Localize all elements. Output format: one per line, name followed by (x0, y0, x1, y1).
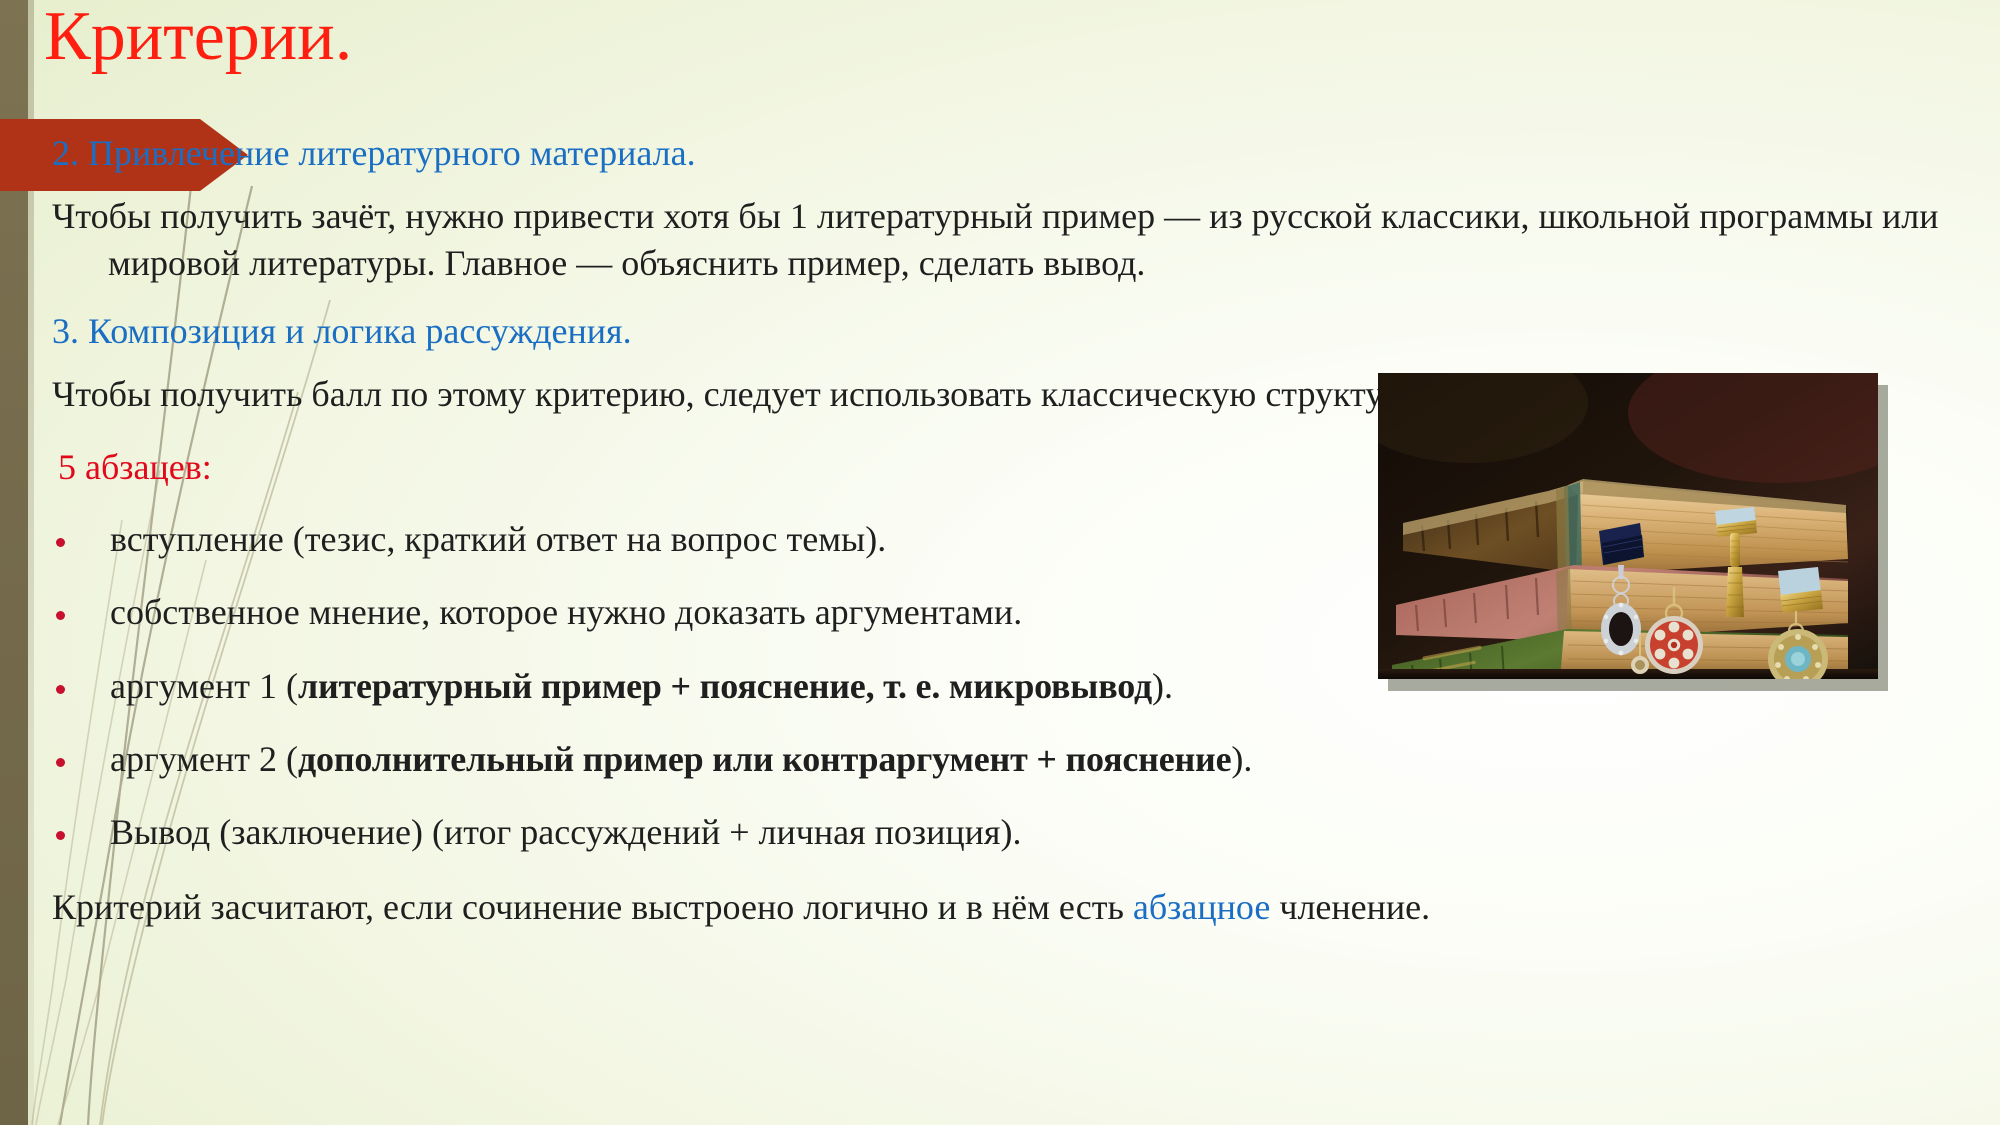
list-item-prefix: аргумент 2 ( (110, 739, 298, 779)
criterion-2-heading: 2. Привлечение литературного материала. (52, 130, 1957, 177)
list-item-text: собственное мнение, которое нужно доказа… (110, 592, 1022, 632)
list-item-emphasis: дополнительный пример или контраргумент … (298, 739, 1231, 779)
criterion-3-heading: 3. Композиция и логика рассуждения. (52, 308, 1957, 355)
list-item-text: вступление (тезис, краткий ответ на вопр… (110, 519, 886, 559)
list-item-text: Вывод (заключение) (итог рассуждений + л… (110, 812, 1021, 852)
presentation-slide: Критерии. 2. Привлечение литературного м… (0, 0, 2000, 1125)
closing-highlight: абзацное (1133, 887, 1270, 927)
books-photo-container (1378, 373, 1878, 679)
slide-title: Критерии. (44, 2, 352, 72)
list-item: Вывод (заключение) (итог рассуждений + л… (52, 810, 1957, 855)
list-item-suffix: ). (1152, 666, 1173, 706)
criterion-2-body: Чтобы получить зачёт, нужно привести хот… (52, 193, 1957, 287)
books-photo (1378, 373, 1878, 679)
closing-prefix: Критерий засчитают, если сочинение выстр… (52, 887, 1133, 927)
closing-suffix: членение. (1270, 887, 1430, 927)
list-item-emphasis: литературный пример + пояснение, т. е. м… (298, 666, 1152, 706)
list-item-prefix: аргумент 1 ( (110, 666, 298, 706)
closing-statement: Критерий засчитают, если сочинение выстр… (52, 884, 1957, 931)
list-item: аргумент 2 (дополнительный пример или ко… (52, 737, 1957, 782)
list-item-suffix: ). (1231, 739, 1252, 779)
